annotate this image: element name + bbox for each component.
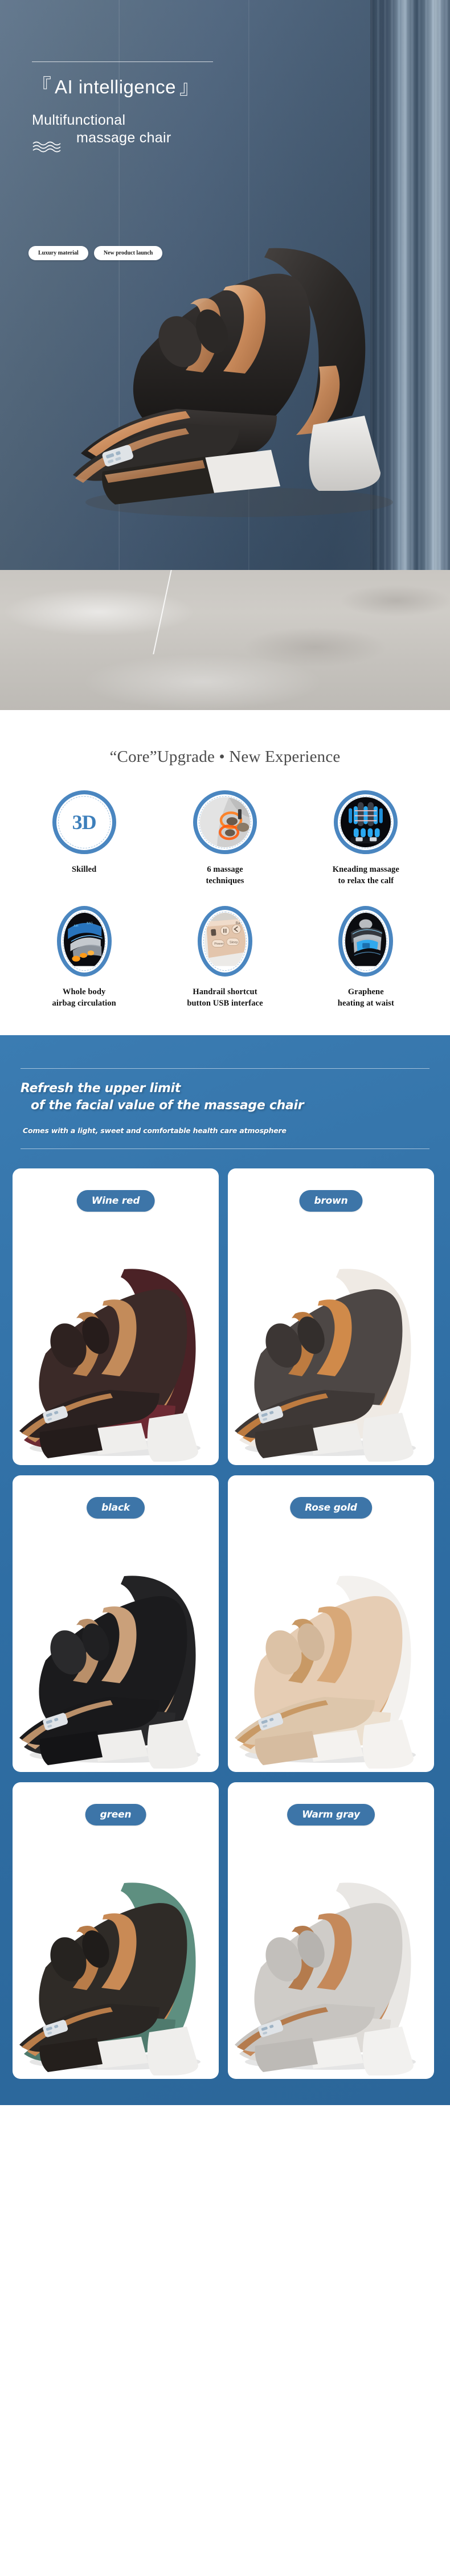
hero-divider (32, 61, 213, 62)
feature-label-airbag: Whole body airbag circulation (52, 987, 116, 1009)
promo-subline: Comes with a light, sweet and comfortabl… (21, 1126, 429, 1135)
feature-label-skilled: Skilled (72, 864, 96, 876)
bracket-open-icon: 『 (32, 77, 51, 96)
feature-label-line2: button USB interface (187, 998, 263, 1010)
feature-grid: 3D Skilled (0, 766, 450, 1029)
promo-headline-line2: of the facial value of the massage chair (21, 1097, 429, 1114)
feature-label-line1: Graphene (338, 987, 394, 998)
3d-badge-icon: 3D (52, 790, 116, 854)
feature-item-techniques[interactable]: 6 massage techniques (154, 790, 295, 887)
color-card-warm-gray[interactable]: Warm gray (228, 1782, 434, 2079)
hero-copy: 『 AI intelligence 』 Multifunctional mass… (32, 61, 283, 157)
graphene-heating-icon (338, 906, 393, 977)
feature-item-graphene[interactable]: Graphene heating at waist (296, 906, 436, 1009)
feature-label-line1: Whole body (52, 987, 116, 998)
color-card-rose-gold[interactable]: Rose gold (228, 1475, 434, 1772)
feature-label-line1: Skilled (72, 864, 96, 876)
dashed-ring (339, 796, 392, 848)
feature-label-handrail: Handrail shortcut button USB interface (187, 987, 263, 1009)
feature-label-line1: 6 massage (206, 864, 244, 876)
control-panel-icon: Power Sleep Ba (198, 906, 252, 977)
hero-badge-list: Luxury material New product launch (28, 246, 162, 260)
color-pill-label: Wine red (77, 1190, 155, 1212)
chair-image-brown (228, 1260, 434, 1465)
color-card-green[interactable]: green (13, 1782, 219, 2079)
wave-icon (32, 140, 69, 154)
feature-label-line1: Kneading massage (333, 864, 399, 876)
feature-label-graphene: Graphene heating at waist (338, 987, 394, 1009)
core-upgrade-heading: “Core”Upgrade • New Experience (0, 748, 450, 766)
feature-item-skilled[interactable]: 3D Skilled (14, 790, 154, 887)
feature-label-line2: techniques (206, 876, 244, 887)
feature-label-line1: Handrail shortcut (187, 987, 263, 998)
dashed-ring (344, 912, 387, 971)
promo-headline: Refresh the upper limit of the facial va… (21, 1080, 429, 1114)
dashed-ring (203, 912, 247, 971)
color-pill-label: brown (299, 1190, 362, 1212)
chair-image-rose-gold (228, 1567, 434, 1772)
chair-image-wine-red (13, 1260, 219, 1465)
whole-body-airbag-icon: AIR BAG (57, 906, 112, 977)
hero-banner: 『 AI intelligence 』 Multifunctional mass… (0, 0, 450, 710)
feature-label-line2: heating at waist (338, 998, 394, 1010)
color-options-section: Refresh the upper limit of the facial va… (0, 1035, 450, 2105)
massage-head-icon (193, 790, 257, 854)
dashed-ring (58, 796, 111, 848)
color-card-brown[interactable]: brown (228, 1168, 434, 1465)
color-card-black[interactable]: black (13, 1475, 219, 1772)
feature-label-calf: Kneading massage to relax the calf (333, 864, 399, 887)
hero-floor (0, 570, 450, 710)
bracket-close-icon: 』 (179, 78, 199, 97)
hero-badge-new-product-launch[interactable]: New product launch (94, 246, 163, 260)
hero-subtitle-line2: massage chair (76, 130, 283, 146)
color-card-wine-red[interactable]: Wine red (13, 1168, 219, 1465)
feature-label-line2: to relax the calf (333, 876, 399, 887)
color-pill-label: Warm gray (287, 1804, 375, 1826)
color-pill-label: Rose gold (290, 1497, 372, 1519)
color-pill-label: green (85, 1804, 146, 1826)
hero-title: AI intelligence (51, 77, 179, 97)
chair-image-green (13, 1874, 219, 2079)
dashed-ring (199, 796, 251, 848)
color-pill-label: black (87, 1497, 145, 1519)
promo-headline-line1: Refresh the upper limit (21, 1080, 429, 1097)
hero-subtitle-line1: Multifunctional (32, 112, 283, 129)
hero-badge-luxury-material[interactable]: Luxury material (28, 246, 88, 260)
calf-airbag-icon (334, 790, 398, 854)
feature-item-handrail[interactable]: Power Sleep Ba Handrail shortcut button … (154, 906, 295, 1009)
hero-massage-chair-image (68, 245, 422, 530)
feature-item-airbag[interactable]: AIR BAG Whole body airbag circulation (14, 906, 154, 1009)
chair-image-black (13, 1567, 219, 1772)
core-upgrade-section: “Core”Upgrade • New Experience 3D Skille… (0, 710, 450, 1035)
hero-title-row: 『 AI intelligence 』 (32, 77, 283, 97)
promo-header: Refresh the upper limit of the facial va… (0, 1035, 450, 1149)
product-detail-page: 『 AI intelligence 』 Multifunctional mass… (0, 0, 450, 2105)
feature-label-techniques: 6 massage techniques (206, 864, 244, 887)
promo-divider-top (21, 1068, 429, 1069)
feature-row-1: 3D Skilled (14, 790, 436, 887)
feature-item-calf[interactable]: Kneading massage to relax the calf (296, 790, 436, 887)
color-card-grid: Wine red (0, 1149, 450, 2079)
dashed-ring (63, 912, 106, 971)
feature-row-2: AIR BAG Whole body airbag circulation (14, 906, 436, 1009)
feature-label-line2: airbag circulation (52, 998, 116, 1010)
chair-image-warm-gray (228, 1874, 434, 2079)
